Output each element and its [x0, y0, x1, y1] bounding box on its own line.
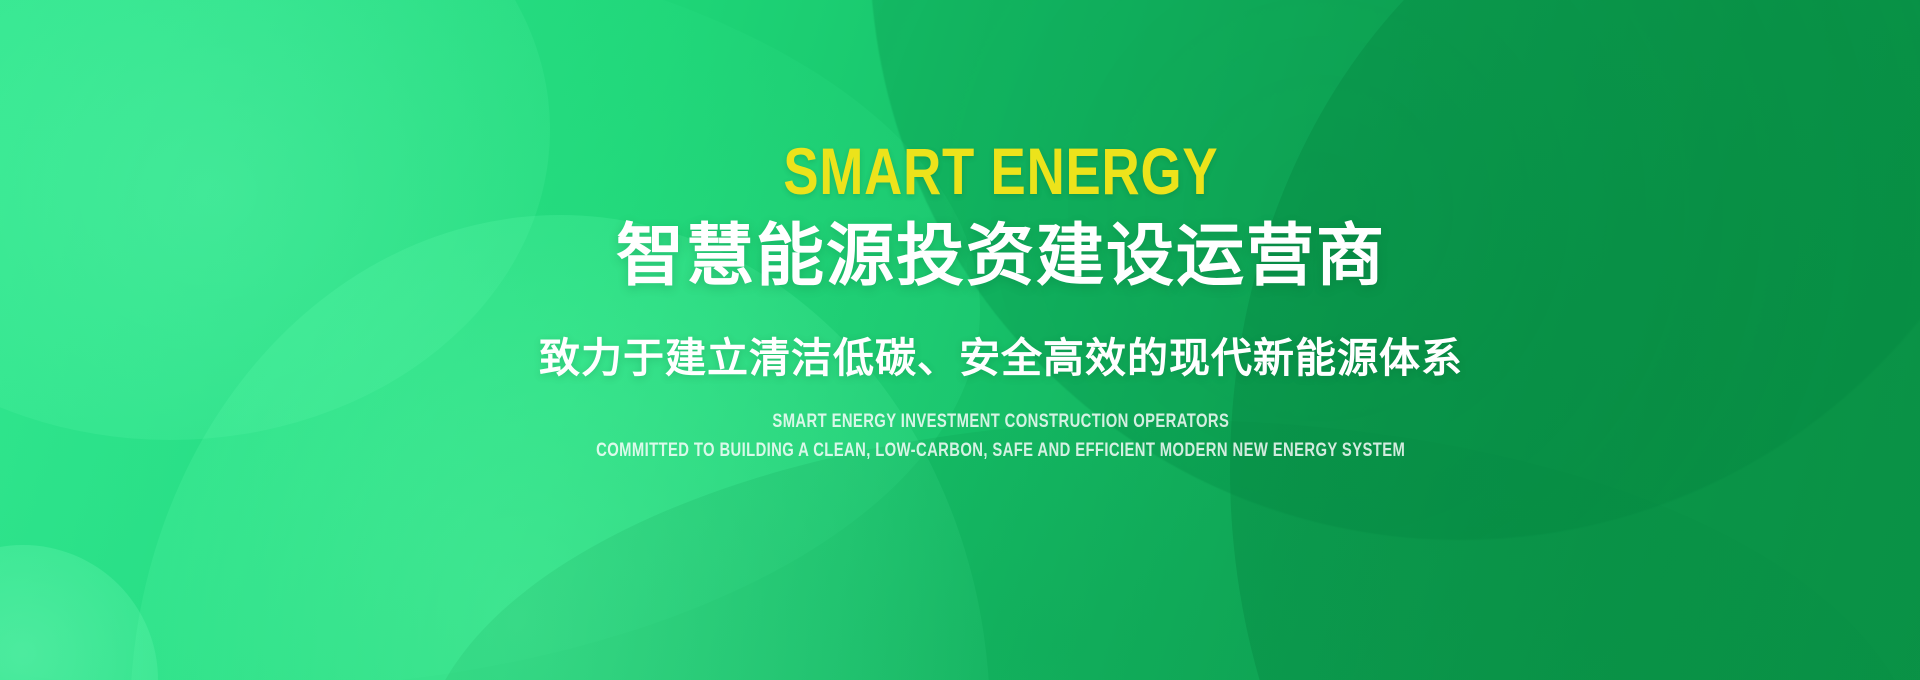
- banner-subheadline: 致力于建立清洁低碳、安全高效的现代新能源体系: [539, 336, 1463, 381]
- banner-caption-group: SMART ENERGY INVESTMENT CONSTRUCTION OPE…: [482, 411, 1519, 462]
- banner-headline: 智慧能源投资建设运营商: [616, 220, 1386, 292]
- banner-eyebrow: SMART ENERGY: [784, 138, 1219, 204]
- banner-content: SMART ENERGY 智慧能源投资建设运营商 致力于建立清洁低碳、安全高效的…: [0, 0, 1920, 680]
- banner-caption-line-2: COMMITTED TO BUILDING A CLEAN, LOW-CARBO…: [596, 440, 1405, 462]
- banner-caption-line-1: SMART ENERGY INVESTMENT CONSTRUCTION OPE…: [773, 411, 1230, 433]
- hero-banner: SMART ENERGY 智慧能源投资建设运营商 致力于建立清洁低碳、安全高效的…: [0, 0, 1920, 680]
